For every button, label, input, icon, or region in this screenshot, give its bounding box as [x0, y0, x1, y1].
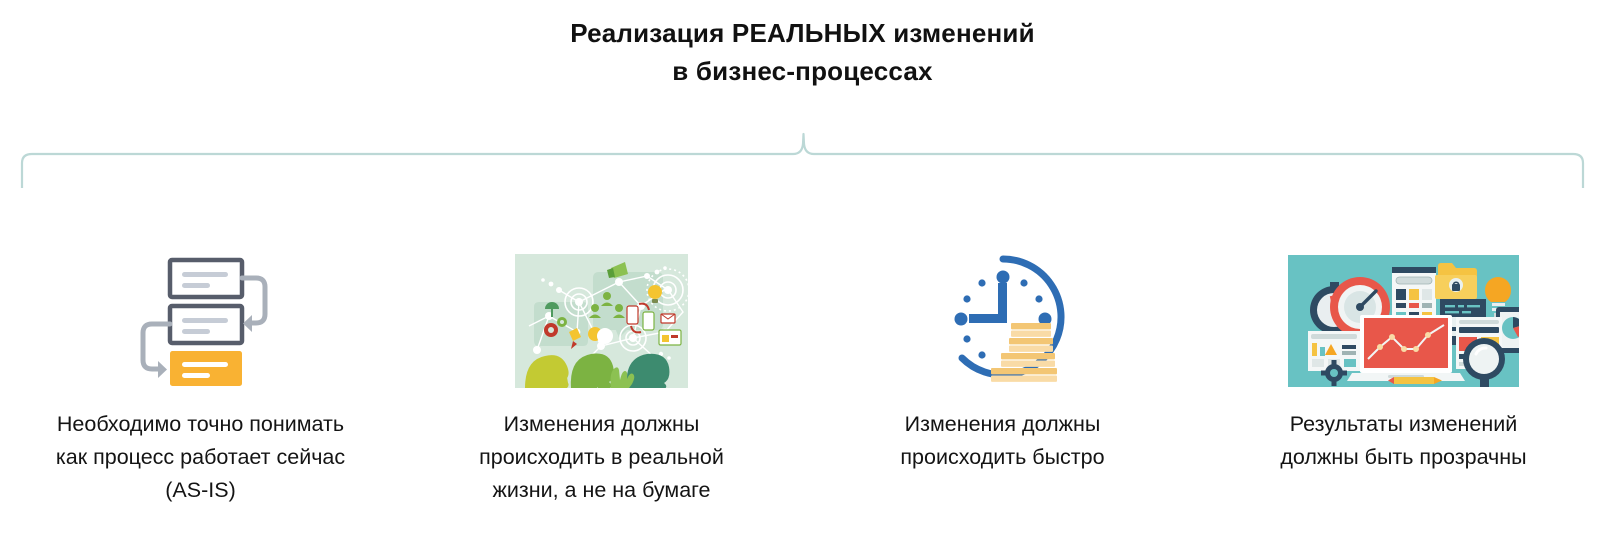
pillar-1-caption-line-2: как процесс работает сейчас [56, 441, 345, 474]
pillar-2-caption-line-3: жизни, а не на бумаге [479, 474, 724, 507]
pillar-4-art [1288, 250, 1519, 392]
process-flowchart-icon [126, 250, 276, 392]
pillar-3-art [933, 250, 1073, 392]
grouping-brace [0, 126, 1605, 188]
pillar-3-caption-line-1: Изменения должны [900, 408, 1104, 441]
pillar-2-art [515, 250, 688, 392]
page-title-line-1: Реализация РЕАЛЬНЫХ изменений [0, 14, 1605, 52]
pillar-4-caption: Результаты изменений должны быть прозрач… [1280, 408, 1526, 474]
pillar-1-caption: Необходимо точно понимать как процесс ра… [56, 408, 345, 507]
pillar-2-caption: Изменения должны происходить в реальной … [479, 408, 724, 507]
pillar-2-caption-line-1: Изменения должны [479, 408, 724, 441]
pillar-4: Результаты изменений должны быть прозрач… [1203, 250, 1604, 474]
page-title: Реализация РЕАЛЬНЫХ изменений в бизнес-п… [0, 14, 1605, 90]
pillar-3-caption-line-2: происходить быстро [900, 441, 1104, 474]
pillar-4-caption-line-2: должны быть прозрачны [1280, 441, 1526, 474]
pillar-2-caption-line-2: происходить в реальной [479, 441, 724, 474]
pillar-3-caption: Изменения должны происходить быстро [900, 408, 1104, 474]
analytics-dashboard-illustration [1288, 255, 1519, 387]
pillar-1-caption-line-3: (AS-IS) [56, 474, 345, 507]
pillar-1-caption-line-1: Необходимо точно понимать [56, 408, 345, 441]
pillar-3: Изменения должны происходить быстро [802, 250, 1203, 474]
page-title-line-2: в бизнес-процессах [0, 52, 1605, 90]
pillar-1: Необходимо точно понимать как процесс ра… [0, 250, 401, 507]
pillar-2: Изменения должны происходить в реальной … [401, 250, 802, 507]
grouping-brace-svg [0, 126, 1605, 188]
pillar-4-caption-line-1: Результаты изменений [1280, 408, 1526, 441]
real-life-network-illustration [515, 254, 688, 388]
clock-and-coins-icon [933, 251, 1073, 391]
pillar-1-art [126, 250, 276, 392]
pillars-row: Необходимо точно понимать как процесс ра… [0, 250, 1605, 550]
